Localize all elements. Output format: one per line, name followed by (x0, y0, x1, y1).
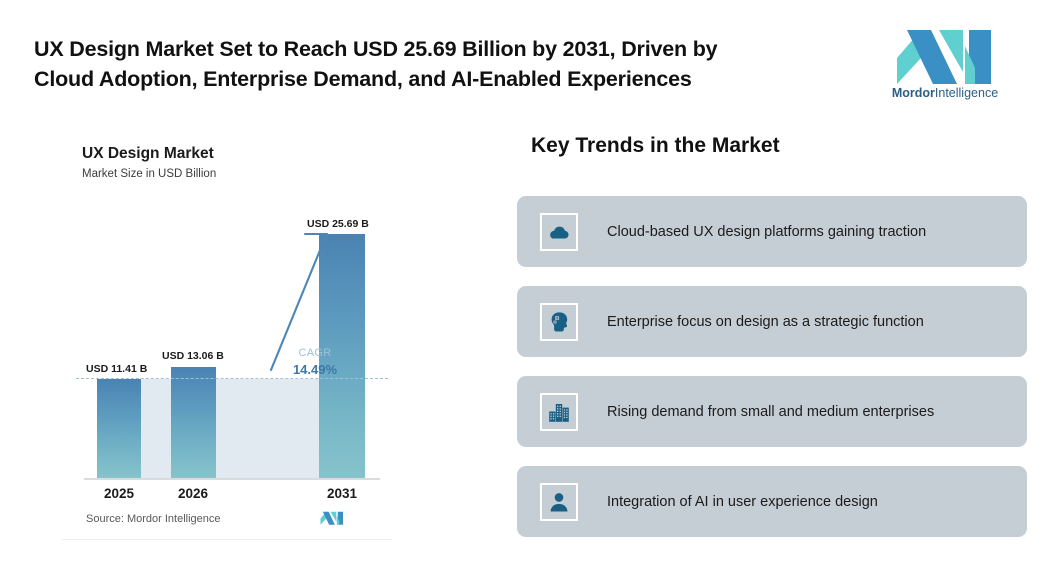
mordor-logo-wordmark: MordorIntelligence (884, 86, 1006, 100)
trend-card-ai-integration[interactable]: Integration of AI in user experience des… (517, 466, 1027, 537)
trend-card-cloud[interactable]: Cloud-based UX design platforms gaining … (517, 196, 1027, 267)
trend-label: Rising demand from small and medium ente… (607, 401, 1007, 423)
mordor-intelligence-logo: MordorIntelligence (884, 28, 1006, 106)
cloud-icon (547, 220, 571, 244)
brand-name-bold: Mordor (892, 86, 935, 100)
mordor-logo-mark-icon (895, 28, 995, 84)
page-header: UX Design Market Set to Reach USD 25.69 … (0, 0, 1059, 120)
bar-2025 (97, 379, 141, 478)
bar-value-label-2025: USD 11.41 B (86, 363, 147, 375)
chart-mordor-logo-icon (320, 509, 344, 527)
x-axis-tick-2031: 2031 (312, 486, 372, 501)
page-title-line-1: UX Design Market Set to Reach USD 25.69 … (34, 34, 854, 64)
trend-card-enterprise-design[interactable]: Enterprise focus on design as a strategi… (517, 286, 1027, 357)
key-trends-panel: Key Trends in the Market Cloud-based UX … (517, 128, 1027, 548)
x-axis-tick-2026: 2026 (163, 486, 223, 501)
bar-chart-plot: USD 11.41 B USD 13.06 B USD 25.69 B 2025… (62, 128, 392, 540)
person-icon (547, 490, 571, 514)
bar-2026 (171, 367, 216, 478)
bar-value-label-2026: USD 13.06 B (162, 350, 224, 362)
x-axis-tick-2025: 2025 (89, 486, 149, 501)
trend-icon-box (540, 483, 578, 521)
buildings-icon (547, 400, 571, 424)
key-trends-list: Cloud-based UX design platforms gaining … (517, 196, 1027, 556)
chart-source-text: Source: Mordor Intelligence (86, 513, 221, 525)
ai-head-gears-icon (547, 310, 571, 334)
chart-dashed-reference-line (76, 378, 388, 379)
trend-label: Cloud-based UX design platforms gaining … (607, 221, 1007, 243)
page-title-line-2: Cloud Adoption, Enterprise Demand, and A… (34, 64, 854, 94)
key-trends-heading: Key Trends in the Market (531, 134, 780, 158)
brand-name-light: Intelligence (935, 86, 998, 100)
trend-icon-box (540, 303, 578, 341)
chart-axis-line (84, 478, 380, 480)
trend-label: Integration of AI in user experience des… (607, 491, 1007, 513)
trend-icon-box (540, 213, 578, 251)
trend-label: Enterprise focus on design as a strategi… (607, 311, 1007, 333)
chart-card: UX Design Market Market Size in USD Bill… (62, 128, 392, 540)
cagr-growth-arrow-icon (267, 226, 397, 376)
page-title: UX Design Market Set to Reach USD 25.69 … (34, 34, 854, 94)
trend-card-sme-demand[interactable]: Rising demand from small and medium ente… (517, 376, 1027, 447)
trend-icon-box (540, 393, 578, 431)
